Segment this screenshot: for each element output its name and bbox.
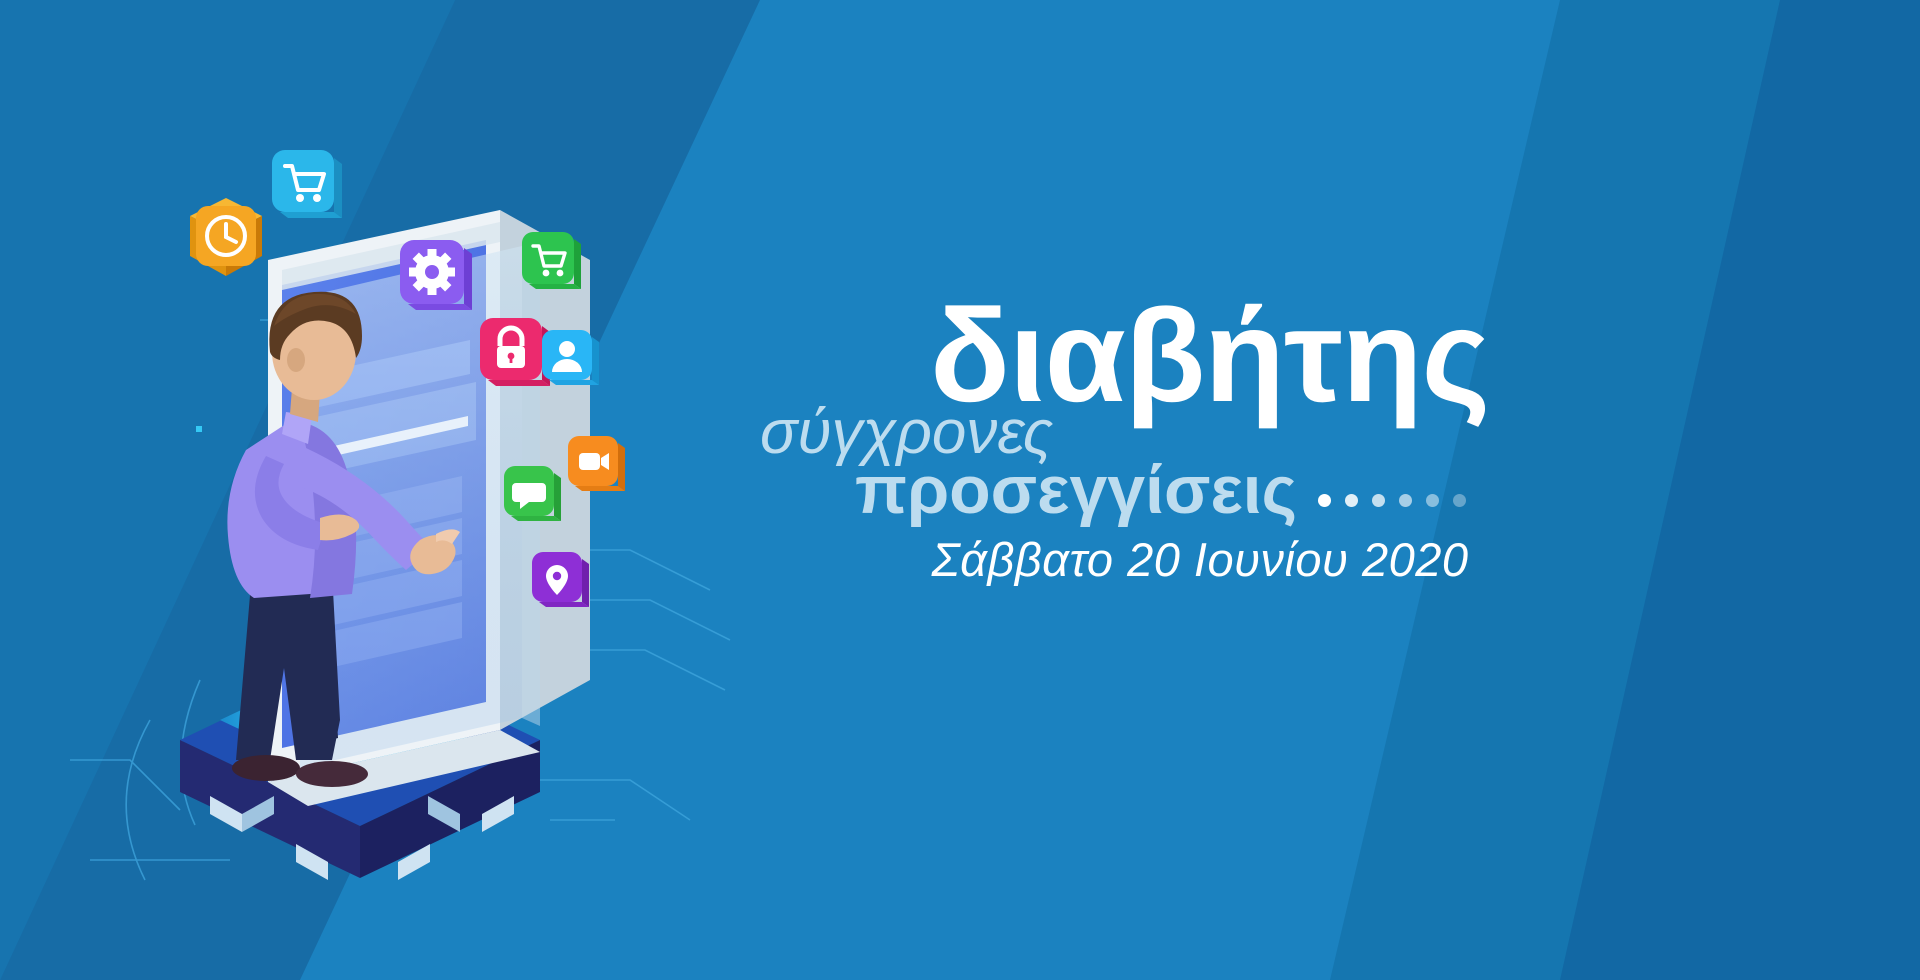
trailing-dot [1372,494,1385,507]
subtitle-line-2: προσεγγίσεις [855,456,1297,524]
trailing-dots [1318,494,1466,507]
clock-icon [190,198,262,276]
trailing-dot [1453,494,1466,507]
event-date: Σάββατο 20 Ιουνίου 2020 [810,532,1590,587]
trailing-dot [1318,494,1331,507]
trailing-dot [1426,494,1439,507]
shoe-right [296,761,368,787]
shoe-left [232,755,300,781]
video-icon [568,436,625,491]
trailing-dot [1345,494,1358,507]
cart-icon [272,150,342,218]
trailing-dot [1399,494,1412,507]
hero-illustration [70,120,770,910]
promo-banner: διαβήτης σύγχρονες προσεγγίσεις Σάββατο … [0,0,1920,980]
user-icon [542,330,599,385]
headline-block: διαβήτης σύγχρονες προσεγγίσεις Σάββατο … [760,280,1580,720]
